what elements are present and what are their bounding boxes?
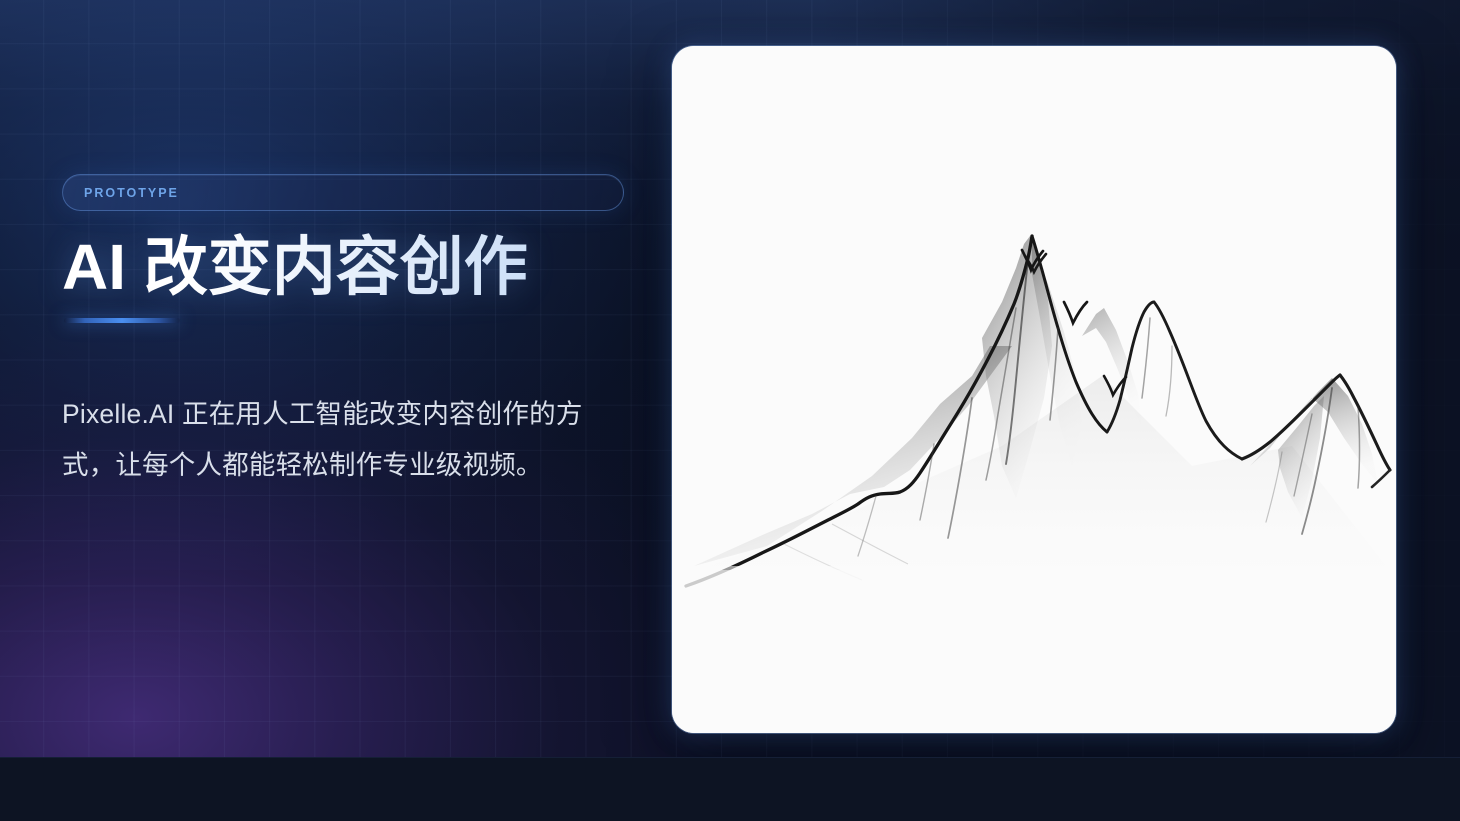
letterbox-top-edge: [0, 757, 1460, 758]
body-paragraph: Pixelle.AI 正在用人工智能改变内容创作的方式，让每个人都能轻松制作专业…: [62, 389, 628, 491]
slide-canvas: PROTOTYPE AI 改变内容创作 Pixelle.AI 正在用人工智能改变…: [0, 0, 1460, 757]
mountain-illustration: [672, 46, 1396, 733]
text-column: PROTOTYPE AI 改变内容创作 Pixelle.AI 正在用人工智能改变…: [62, 174, 662, 491]
page-title: AI 改变内容创作: [62, 233, 662, 302]
slide-stage: PROTOTYPE AI 改变内容创作 Pixelle.AI 正在用人工智能改变…: [0, 0, 1460, 821]
media-card: [672, 46, 1396, 733]
bottom-letterbox: [0, 757, 1460, 821]
prototype-badge-label: PROTOTYPE: [84, 186, 179, 200]
title-accent-bar: [64, 318, 180, 323]
prototype-badge: PROTOTYPE: [62, 174, 624, 211]
